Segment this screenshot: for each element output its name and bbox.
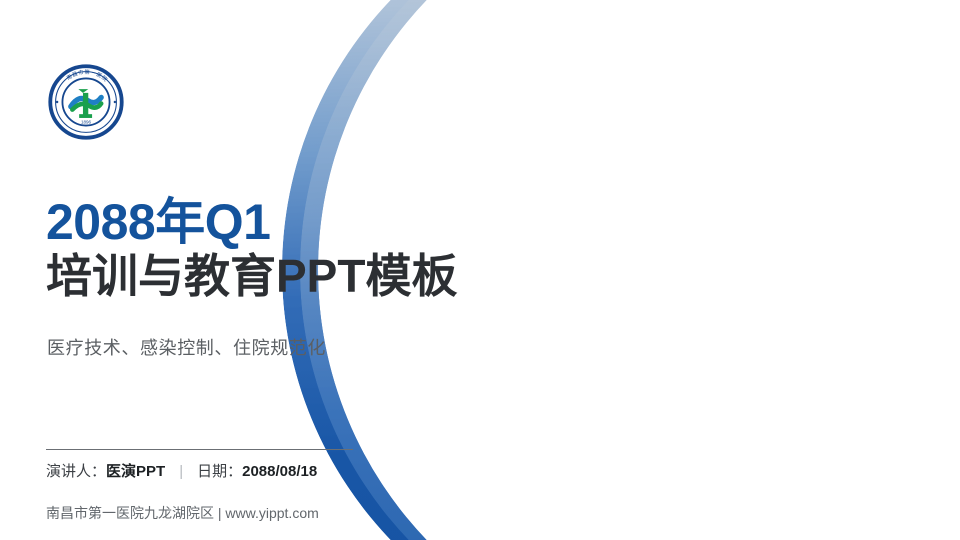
title-slide: 1896 南 昌 市 第 一 医 院 南 昌 大 学 第 三 附 (0, 0, 960, 540)
date-label: 日期： (197, 463, 242, 480)
subtitle: 医疗技术、感染控制、住院规范化 (47, 334, 326, 360)
content-column: 1896 南 昌 市 第 一 医 院 南 昌 大 学 第 三 附 (0, 0, 430, 540)
page-title: 2088年Q1 培训与教育PPT模板 (46, 196, 516, 303)
speaker-label: 演讲人： (46, 463, 106, 480)
logo-year: 1896 (81, 119, 92, 124)
date-value: 2088/08/18 (242, 463, 317, 480)
meta-divider (46, 449, 353, 450)
footer-text: 南昌市第一医院九龙湖院区 | www.yippt.com (46, 503, 319, 523)
presenter-meta: 演讲人：医演PPT|日期：2088/08/18 (46, 460, 317, 481)
meta-separator: | (165, 463, 197, 480)
speaker-value: 医演PPT (106, 463, 165, 480)
title-main-line: 培训与教育PPT模板 (46, 251, 516, 303)
title-year-line: 2088年Q1 (46, 196, 516, 249)
hospital-logo: 1896 南 昌 市 第 一 医 院 南 昌 大 学 第 三 附 (48, 64, 124, 140)
